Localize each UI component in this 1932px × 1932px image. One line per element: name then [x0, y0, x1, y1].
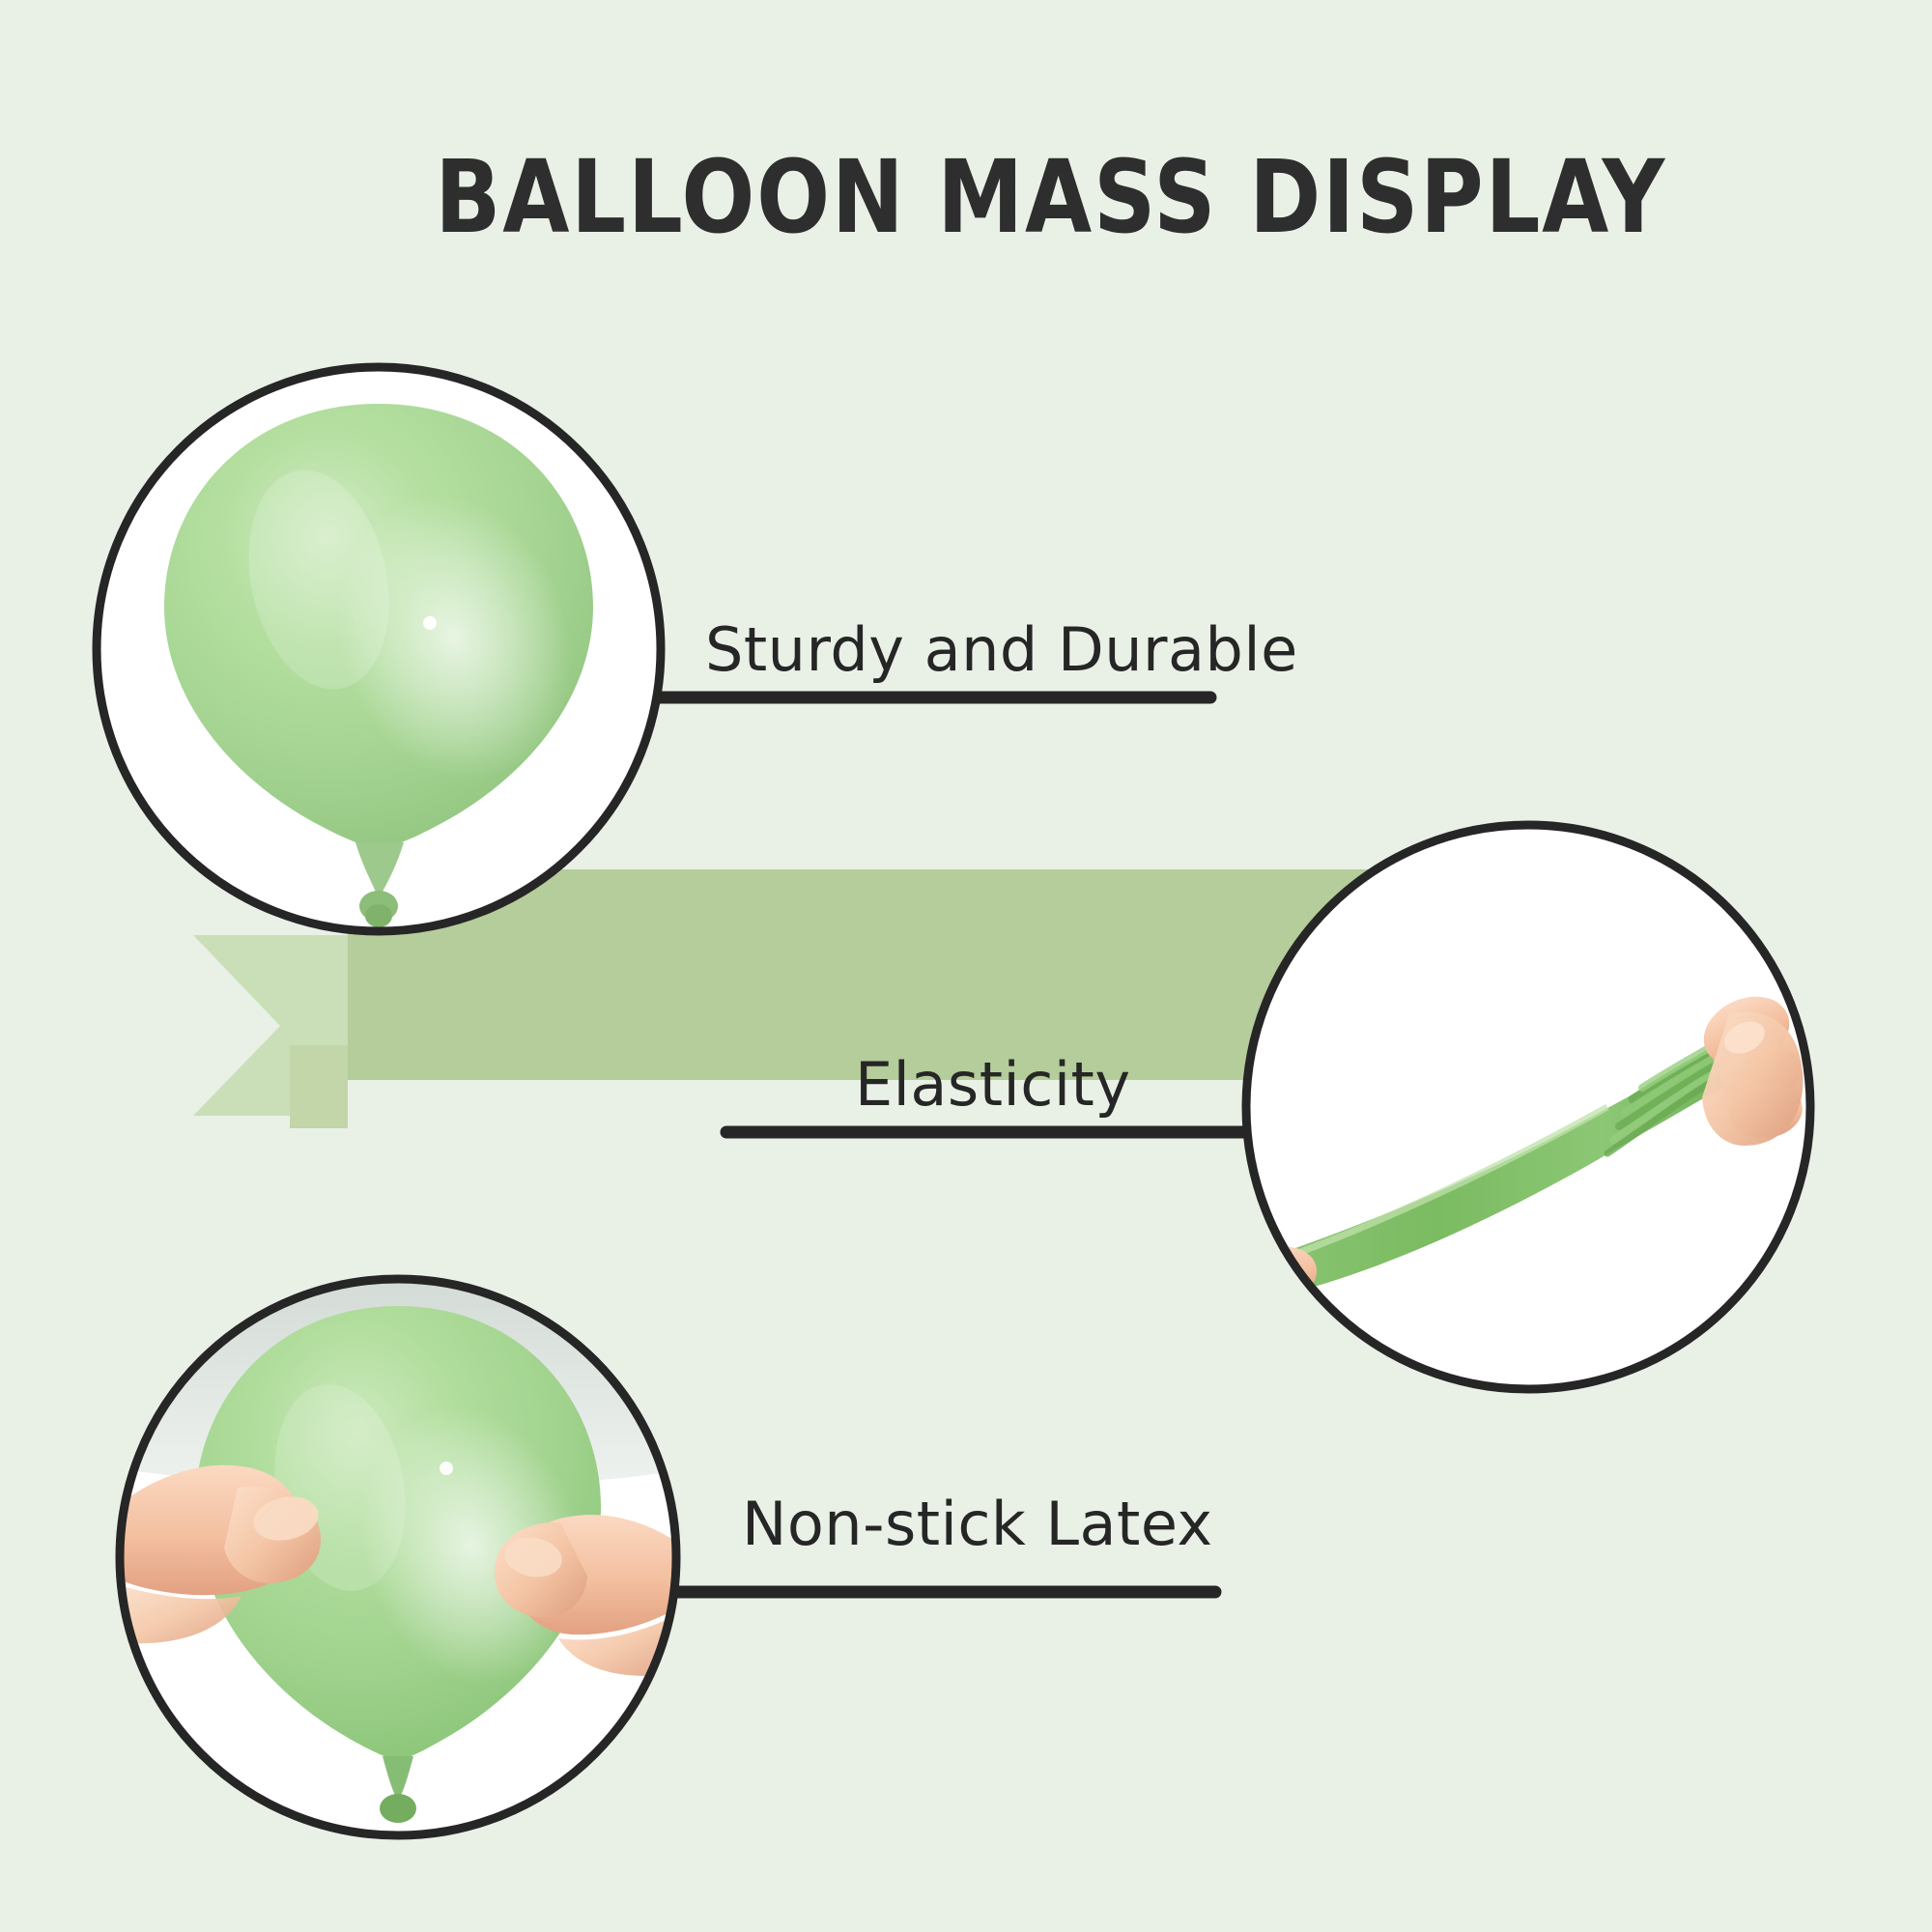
feature-image-non-stick-latex	[116, 1275, 686, 1845]
feature-image-sturdy-and-durable	[97, 367, 667, 937]
feature-photo-circles	[0, 0, 1932, 1932]
feature-label-elasticity: Elasticity	[855, 1053, 1131, 1117]
infographic-canvas: BALLOON MASS DISPLAY	[0, 0, 1932, 1932]
feature-label-non-stick-latex: Non-stick Latex	[742, 1492, 1213, 1556]
feature-label-sturdy-and-durable: Sturdy and Durable	[705, 618, 1298, 682]
feature-image-elasticity	[1221, 825, 1816, 1395]
